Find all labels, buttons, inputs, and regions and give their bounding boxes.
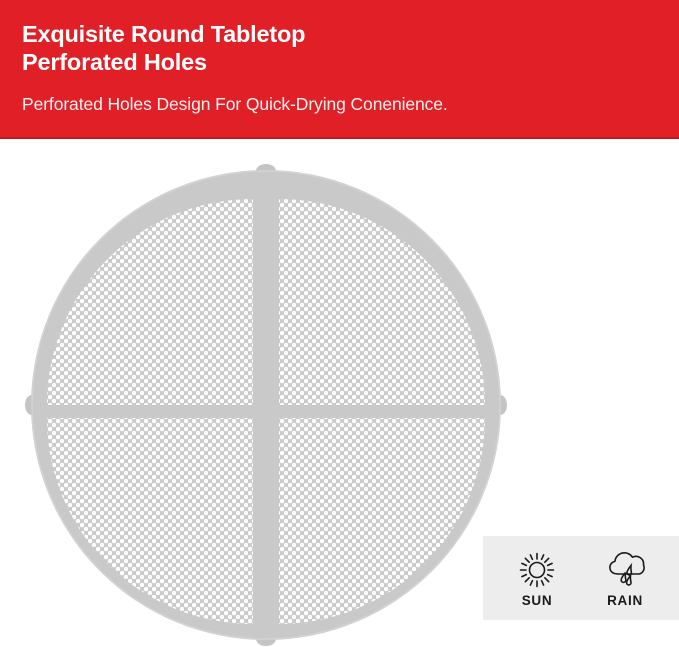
header-banner: Exquisite Round Tabletop Perforated Hole… (0, 0, 679, 139)
sun-icon (517, 549, 557, 591)
weather-label-rain: RAIN (607, 593, 643, 608)
weather-item-rain: RAIN (581, 549, 669, 608)
page-title: Exquisite Round Tabletop Perforated Hole… (22, 20, 622, 76)
weather-resistance-badge: SUN RAIN (483, 536, 679, 620)
page-subtitle: Perforated Holes Design For Quick-Drying… (22, 93, 662, 115)
weather-label-sun: SUN (522, 593, 553, 608)
tabletop-disc-graphic (0, 139, 540, 647)
round-perforated-tabletop (0, 139, 540, 647)
weather-item-sun: SUN (493, 549, 581, 608)
rain-cloud-icon (602, 549, 648, 591)
